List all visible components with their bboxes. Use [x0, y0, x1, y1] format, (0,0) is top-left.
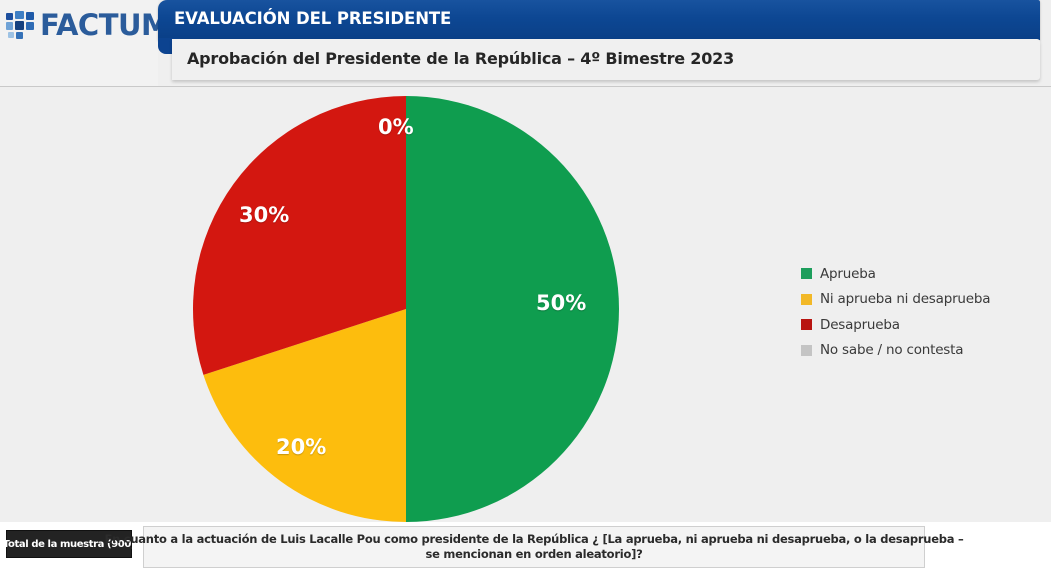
legend-swatch-icon [801, 319, 812, 330]
legend-swatch-icon [801, 294, 812, 305]
footer: Total de la muestra (900) En cuanto a la… [0, 522, 1051, 570]
legend-label: Ni aprueba ni desaprueba [820, 291, 990, 307]
factum-logo: FACTUM [6, 8, 156, 42]
pie-label-ni-aprueba-ni-desaprueba: 20% [276, 435, 326, 459]
header-tab: EVALUACIÓN DEL PRESIDENTE [158, 0, 1040, 40]
legend-label: No sabe / no contesta [820, 342, 963, 358]
survey-question-line-1: En cuanto a la actuación de Luis Lacalle… [104, 532, 963, 547]
subtitle-panel: Aprobación del Presidente de la Repúblic… [172, 39, 1040, 80]
pie-slice[interactable] [406, 96, 619, 522]
survey-question-line-2: se mencionan en orden aleatorio]? [425, 547, 642, 562]
legend-item-ni-aprueba-ni-desaprueba[interactable]: Ni aprueba ni desaprueba [801, 287, 1016, 313]
legend-swatch-icon [801, 345, 812, 356]
pie-label-no-sabe: 0% [378, 115, 414, 139]
legend-item-aprueba[interactable]: Aprueba [801, 261, 1016, 287]
legend-label: Desaprueba [820, 317, 900, 333]
chart-legend: Aprueba Ni aprueba ni desaprueba Desapru… [801, 261, 1016, 363]
legend-swatch-icon [801, 268, 812, 279]
pixel-squares-icon [6, 11, 36, 39]
legend-item-no-sabe-no-contesta[interactable]: No sabe / no contesta [801, 338, 1016, 364]
chart-area: 0% 30% 50% 20% Aprueba Ni aprueba ni des… [0, 86, 1051, 523]
pie-label-aprueba: 50% [536, 291, 586, 315]
slide-root: FACTUM EVALUACIÓN DEL PRESIDENTE Aprobac… [0, 0, 1051, 570]
survey-question-box: En cuanto a la actuación de Luis Lacalle… [143, 526, 925, 568]
pie-label-desaprueba: 30% [239, 203, 289, 227]
legend-label: Aprueba [820, 266, 876, 282]
pie-chart: 0% 30% 50% 20% [192, 95, 620, 523]
page-title: Aprobación del Presidente de la Repúblic… [187, 49, 734, 68]
header-tab-title: EVALUACIÓN DEL PRESIDENTE [174, 9, 451, 28]
logo-wordmark: FACTUM [40, 11, 169, 40]
legend-item-desaprueba[interactable]: Desaprueba [801, 312, 1016, 338]
